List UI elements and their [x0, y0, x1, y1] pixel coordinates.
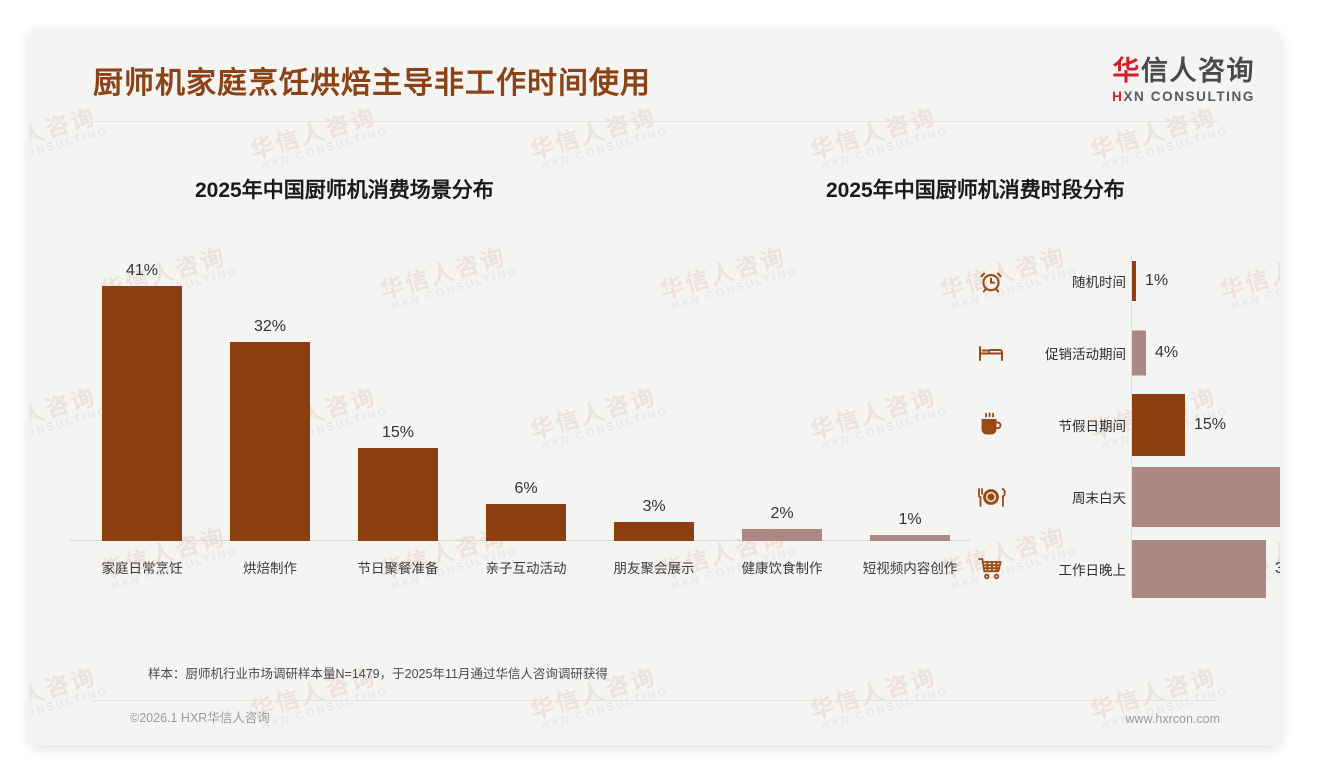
bar-value-label: 1%: [1145, 272, 1168, 290]
copyright-text: ©2026.1 HXR华信人咨询: [130, 707, 270, 726]
bar-value-label: 15%: [1194, 416, 1226, 434]
column-value-label: 32%: [254, 318, 286, 336]
column-category-label: 亲子互动活动: [486, 557, 567, 577]
bar-chart-row: 促销活动期间4%: [960, 324, 1270, 382]
watermark: 华信人咨询HXN CONSULTING: [30, 662, 110, 735]
logo-chinese: 华信人咨询: [1112, 57, 1255, 85]
logo-english-rest: XN CONSULTING: [1123, 89, 1255, 104]
horizontal-bar[interactable]: [1132, 467, 1280, 527]
column-category-label: 烘焙制作: [243, 557, 297, 577]
slide-canvas: 华信人咨询HXN CONSULTING华信人咨询HXN CONSULTING华信…: [30, 30, 1280, 745]
column-bar[interactable]: [486, 504, 566, 541]
logo-chinese-rest: 信人咨询: [1141, 56, 1255, 86]
column-value-label: 41%: [126, 262, 158, 280]
column-category-label: 节日聚餐准备: [358, 557, 439, 577]
column-value-label: 15%: [382, 424, 414, 442]
column-chart-plot: [70, 257, 970, 541]
bar-category-label: 促销活动期间: [1045, 343, 1126, 363]
column-bar[interactable]: [870, 535, 950, 541]
hot-beverage-icon: [970, 412, 1012, 438]
column-category-label: 朋友聚会展示: [614, 557, 695, 577]
logo-english-red: H: [1112, 89, 1123, 104]
bar-category-label: 节假日期间: [1059, 415, 1127, 435]
bar-chart-row: 随机时间1%: [960, 252, 1270, 310]
column-value-label: 2%: [770, 505, 793, 523]
horizontal-bar[interactable]: [1132, 394, 1185, 456]
column-value-label: 1%: [898, 511, 921, 529]
column-category-label: 短视频内容创作: [863, 557, 958, 577]
footer-divider: [93, 700, 1218, 701]
column-bar[interactable]: [230, 342, 310, 541]
bar-chart-row: 节假日期间15%: [960, 396, 1270, 454]
horizontal-bar[interactable]: [1132, 540, 1266, 598]
plate-cutlery-icon: [970, 485, 1012, 509]
bar-category-label: 工作日晚上: [1059, 559, 1127, 579]
column-value-label: 3%: [642, 498, 665, 516]
bar-category-label: 周末白天: [1072, 487, 1126, 507]
bar-value-label: 38%: [1275, 560, 1280, 578]
column-bar[interactable]: [614, 522, 694, 541]
column-bar[interactable]: [358, 448, 438, 541]
bar-value-label: 4%: [1155, 344, 1178, 362]
charts-area: 2025年中国厨师机消费场景分布 2025年中国厨师机消费时段分布 41%家庭日…: [30, 122, 1280, 652]
scenario-column-chart: 41%家庭日常烹饪32%烘焙制作15%节日聚餐准备6%亲子互动活动3%朋友聚会展…: [70, 257, 970, 587]
column-bar[interactable]: [102, 286, 182, 541]
right-chart-title: 2025年中国厨师机消费时段分布: [826, 174, 1125, 204]
left-chart-title: 2025年中国厨师机消费场景分布: [195, 174, 494, 204]
timeslot-bar-chart: 随机时间1%促销活动期间4%节假日期间15%周末白天42%工作日晚上38%: [960, 252, 1270, 597]
column-category-label: 家庭日常烹饪: [102, 557, 183, 577]
column-category-label: 健康饮食制作: [742, 557, 823, 577]
slide-header: 厨师机家庭烹饪烘焙主导非工作时间使用 华信人咨询 HXN CONSULTING: [30, 30, 1280, 122]
horizontal-bar[interactable]: [1132, 331, 1146, 376]
bar-chart-row: 周末白天42%: [960, 468, 1270, 526]
company-logo: 华信人咨询 HXN CONSULTING: [1112, 57, 1255, 104]
sample-note: 样本：厨师机行业市场调研样本量N=1479，于2025年11月通过华信人咨询调研…: [148, 663, 608, 682]
column-bar[interactable]: [742, 529, 822, 541]
horizontal-bar[interactable]: [1132, 261, 1136, 301]
bed-icon: [970, 343, 1012, 363]
bar-category-label: 随机时间: [1072, 271, 1126, 291]
logo-chinese-red: 华: [1113, 56, 1142, 86]
bar-chart-row: 工作日晚上38%: [960, 540, 1270, 598]
alarm-clock-icon: [970, 268, 1012, 294]
logo-english: HXN CONSULTING: [1112, 89, 1255, 104]
column-value-label: 6%: [514, 480, 537, 498]
shopping-cart-icon: [970, 556, 1012, 582]
page-title: 厨师机家庭烹饪烘焙主导非工作时间使用: [93, 58, 651, 102]
watermark: 华信人咨询HXN CONSULTING: [808, 662, 950, 735]
website-text: www.hxrcon.com: [1126, 712, 1220, 726]
